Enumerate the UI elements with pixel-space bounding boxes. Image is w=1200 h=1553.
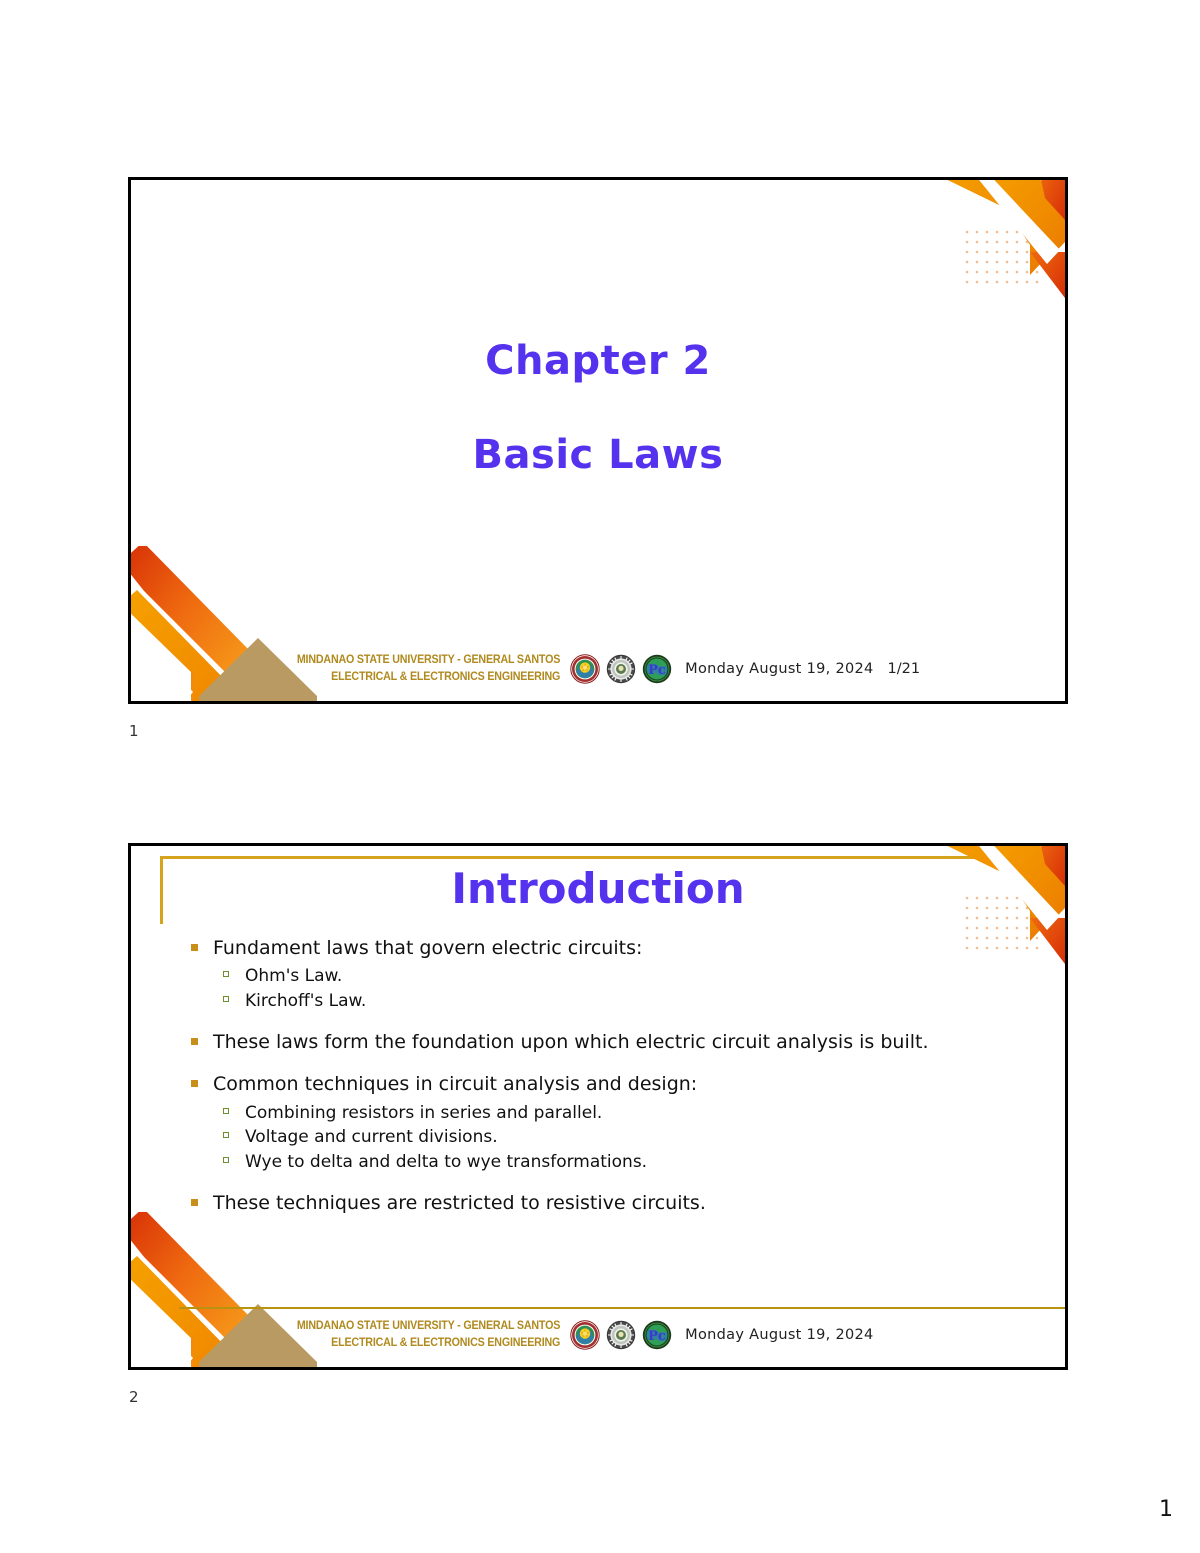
pice-seal-logo: Pc bbox=[642, 1320, 672, 1350]
bullet-item: These techniques are restricted to resis… bbox=[183, 1191, 1025, 1216]
footer-university-line-2: ELECTRICAL & ELECTRONICS ENGINEERING bbox=[297, 669, 560, 686]
document-page-number: 1 bbox=[1159, 1497, 1173, 1522]
footer-university: MINDANAO STATE UNIVERSITY - GENERAL SANT… bbox=[297, 1318, 560, 1351]
msu-seal-logo bbox=[570, 654, 600, 684]
square-bullet-icon bbox=[191, 1038, 198, 1045]
bullet-block: These laws form the foundation upon whic… bbox=[183, 1030, 1025, 1055]
bullet-block: These techniques are restricted to resis… bbox=[183, 1191, 1025, 1216]
pice-seal-logo: Pc bbox=[642, 654, 672, 684]
sub-bullet-item: Ohm's Law. bbox=[183, 964, 1025, 989]
hollow-square-bullet-icon bbox=[223, 1108, 229, 1114]
bullet-block: Common techniques in circuit analysis an… bbox=[183, 1072, 1025, 1174]
footer-date: Monday August 19, 2024 bbox=[685, 1327, 873, 1343]
footer-university-line-2: ELECTRICAL & ELECTRONICS ENGINEERING bbox=[297, 1335, 560, 1352]
msu-seal-logo bbox=[570, 1320, 600, 1350]
hollow-square-bullet-icon bbox=[223, 1132, 229, 1138]
slide-footer: MINDANAO STATE UNIVERSITY - GENERAL SANT… bbox=[131, 1309, 1065, 1361]
bullet-item: Common techniques in circuit analysis an… bbox=[183, 1072, 1025, 1097]
sub-bullet-item: Voltage and current divisions. bbox=[183, 1125, 1025, 1150]
svg-text:Pc: Pc bbox=[648, 663, 666, 678]
sub-bullet-item: Wye to delta and delta to wye transforma… bbox=[183, 1150, 1025, 1175]
sub-bullet-text: Wye to delta and delta to wye transforma… bbox=[245, 1152, 647, 1172]
footer-date: Monday August 19, 2024 bbox=[685, 661, 873, 677]
gear-seal-logo bbox=[606, 1320, 636, 1350]
slide-body-content: Fundament laws that govern electric circ… bbox=[183, 936, 1025, 1217]
square-bullet-icon bbox=[191, 1199, 198, 1206]
gear-seal-logo bbox=[606, 654, 636, 684]
footer-logos: Pc bbox=[570, 654, 672, 684]
footer-university: MINDANAO STATE UNIVERSITY - GENERAL SANT… bbox=[297, 652, 560, 685]
square-bullet-icon bbox=[191, 944, 198, 951]
sub-bullet-text: Voltage and current divisions. bbox=[245, 1127, 498, 1147]
bullet-block: Fundament laws that govern electric circ… bbox=[183, 936, 1025, 1013]
top-right-chevron-decoration bbox=[935, 180, 1065, 330]
bullet-text: These techniques are restricted to resis… bbox=[213, 1192, 706, 1214]
slide-index-label-2: 2 bbox=[129, 1388, 139, 1406]
sub-bullet-text: Combining resistors in series and parall… bbox=[245, 1103, 602, 1123]
hollow-square-bullet-icon bbox=[223, 971, 229, 977]
sub-bullet-text: Ohm's Law. bbox=[245, 966, 342, 986]
slide-title-line-2: Basic Laws bbox=[131, 432, 1065, 478]
square-bullet-icon bbox=[191, 1080, 198, 1087]
slide-footer: MINDANAO STATE UNIVERSITY - GENERAL SANT… bbox=[131, 643, 1065, 695]
hollow-square-bullet-icon bbox=[223, 1157, 229, 1163]
bullet-text: Fundament laws that govern electric circ… bbox=[213, 937, 642, 959]
sub-bullet-list: Ohm's Law. Kirchoff's Law. bbox=[183, 964, 1025, 1013]
footer-logos: Pc bbox=[570, 1320, 672, 1350]
page-title: Introduction bbox=[160, 864, 1036, 913]
slide-index-label-1: 1 bbox=[129, 722, 139, 740]
sub-bullet-text: Kirchoff's Law. bbox=[245, 991, 366, 1011]
slide-title-line-1: Chapter 2 bbox=[131, 338, 1065, 384]
footer-university-line-1: MINDANAO STATE UNIVERSITY - GENERAL SANT… bbox=[297, 1318, 560, 1335]
bullet-item: These laws form the foundation upon whic… bbox=[183, 1030, 1025, 1055]
footer-page-number: 1/21 bbox=[888, 661, 921, 677]
slide-2[interactable]: Introduction Fundament laws that govern … bbox=[128, 843, 1068, 1370]
slide-1[interactable]: Chapter 2 Basic Laws MINDANAO STATE UNIV… bbox=[128, 177, 1068, 704]
sub-bullet-list: Combining resistors in series and parall… bbox=[183, 1101, 1025, 1175]
footer-university-line-1: MINDANAO STATE UNIVERSITY - GENERAL SANT… bbox=[297, 652, 560, 669]
svg-text:Pc: Pc bbox=[648, 1329, 666, 1344]
bullet-item: Fundament laws that govern electric circ… bbox=[183, 936, 1025, 961]
sub-bullet-item: Kirchoff's Law. bbox=[183, 989, 1025, 1014]
bullet-text: These laws form the foundation upon whic… bbox=[213, 1031, 929, 1053]
hollow-square-bullet-icon bbox=[223, 996, 229, 1002]
sub-bullet-item: Combining resistors in series and parall… bbox=[183, 1101, 1025, 1126]
bullet-text: Common techniques in circuit analysis an… bbox=[213, 1073, 697, 1095]
